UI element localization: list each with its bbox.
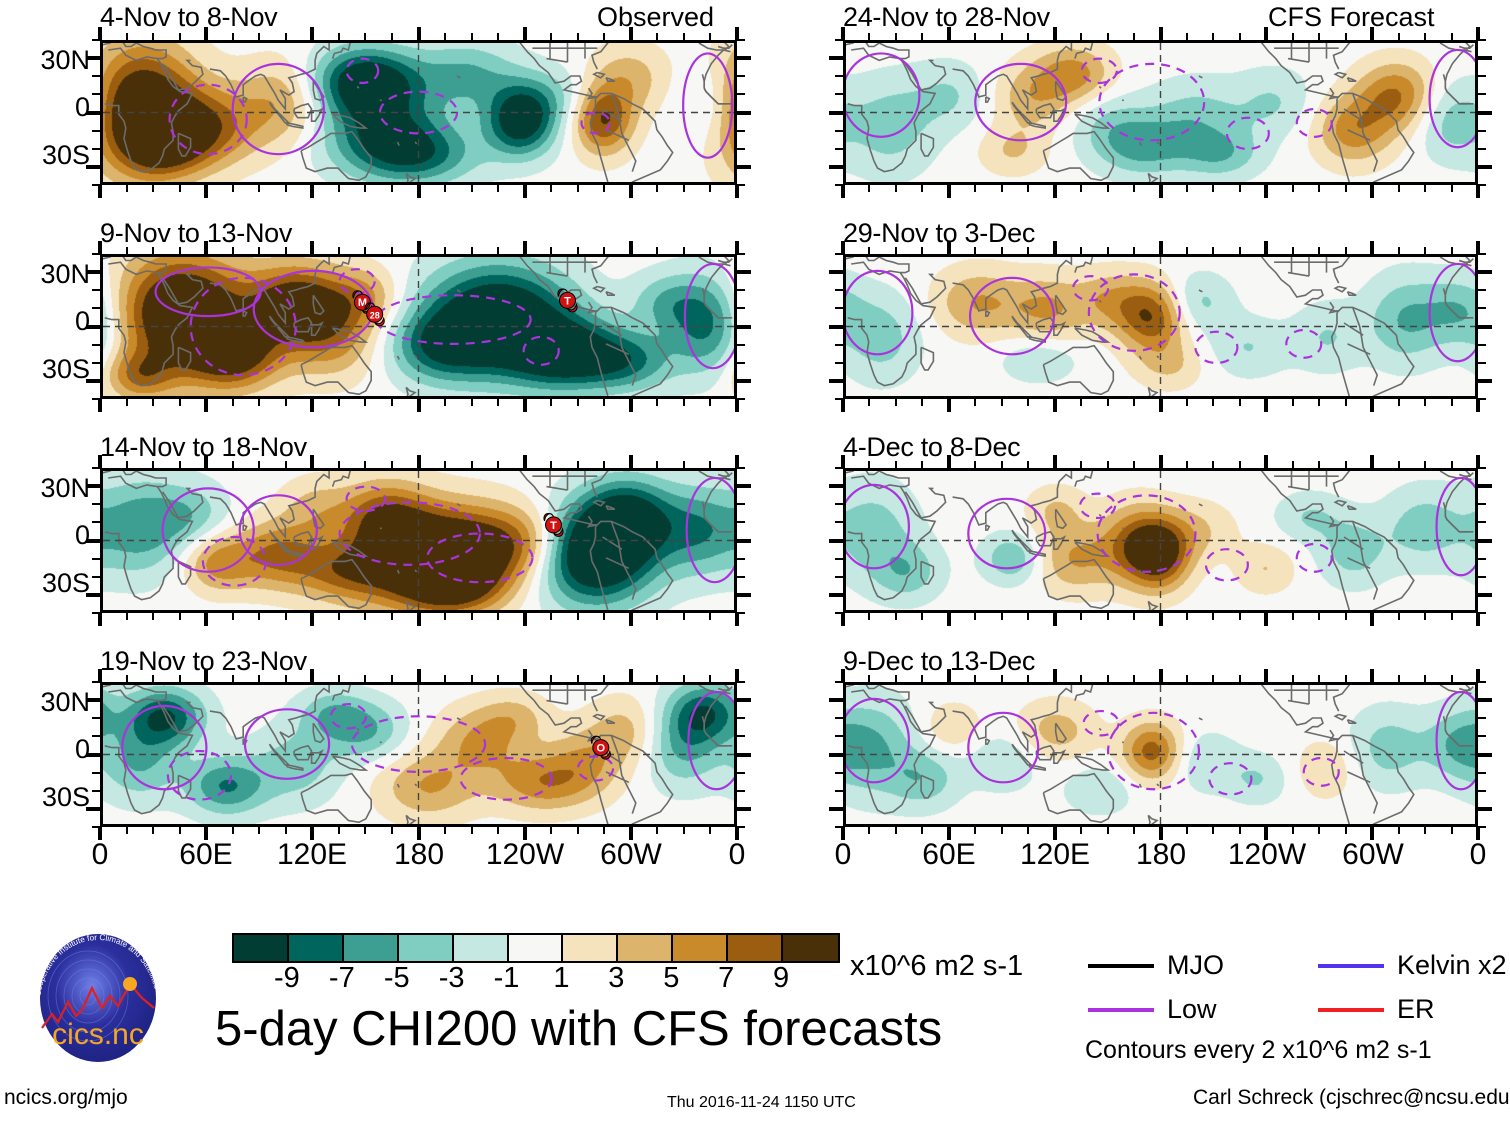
coastline [1445,516,1473,532]
ytick-label-0-r4: 0 [0,734,90,765]
x-tick-mark [921,675,923,682]
y-tick-mark [835,148,843,150]
panel-title-p8: 9-Dec to 13-Dec [843,646,1035,677]
y-tick-mark [1478,344,1486,346]
coastline [702,716,704,730]
x-tick-mark [683,247,685,254]
y-tick-mark [92,558,100,560]
x-tick-mark [974,675,976,682]
x-tick-mark [391,399,393,406]
coastline [398,570,400,574]
coastline [457,504,461,506]
xtick-label-r-360: 0 [1438,838,1510,872]
coastline [1199,290,1203,292]
panel-title-p7: 4-Dec to 8-Dec [843,432,1020,463]
x-tick-mark [232,461,234,468]
x-tick-mark [921,827,923,834]
x-tick-mark [391,185,393,192]
x-tick-mark [1186,399,1188,406]
coastline [301,774,371,823]
legend-item-kelvin: Kelvin x2 [1318,950,1507,981]
coastline [1353,521,1378,599]
x-tick-mark [310,455,314,468]
x-tick-mark [1398,461,1400,468]
footer-site-link[interactable]: ncics.org/mjo [4,1086,128,1110]
y-tick-mark [829,807,843,811]
y-tick-mark [1478,503,1486,505]
y-tick-mark [92,576,100,578]
coastline [1444,716,1446,730]
x-tick-mark [126,827,128,834]
x-tick-mark [1001,33,1003,40]
x-tick-mark [285,827,287,834]
coastline [594,715,605,720]
coastline [704,730,732,746]
y-tick-mark [1478,467,1486,469]
coastline [398,784,400,788]
cics-logo: Cooperative Institute for Climate and Sa… [18,932,178,1067]
legend-label-mjo: MJO [1167,950,1224,981]
x-tick-mark [921,399,923,406]
x-tick-mark [550,613,552,620]
x-tick-mark [364,185,366,192]
x-tick-mark [1186,461,1188,468]
storm-label: 28 [370,310,380,320]
legend-label-kelvin: Kelvin x2 [1397,950,1507,981]
x-tick-mark [232,613,234,620]
x-tick-mark [683,33,685,40]
y-tick-mark [92,612,100,614]
coastline [1075,756,1108,770]
y-tick-mark [86,111,100,115]
colorbar-swatch-2 [344,935,399,961]
x-tick-mark [1370,455,1374,468]
coastline [592,43,641,69]
x-tick-mark [1159,399,1163,412]
wave-contour-negative [376,295,530,344]
coastline [1043,774,1113,823]
y-tick-mark [86,379,100,383]
x-tick-mark [1345,247,1347,254]
y-tick-mark [829,270,843,274]
map-panel-p2[interactable]: M28T [100,254,737,399]
coastline [1348,130,1371,140]
x-tick-mark [709,33,711,40]
map-panel-p5[interactable] [843,40,1478,185]
x-tick-mark [709,461,711,468]
coastline [1199,76,1203,78]
coastline [103,471,724,487]
coastline [1353,93,1378,171]
x-tick-mark [709,185,711,192]
coastline [457,718,461,720]
map-panel-p4[interactable]: O [100,682,737,827]
x-tick-mark [1370,669,1374,682]
x-tick-mark [338,185,340,192]
coastline [1335,715,1346,720]
x-tick-mark [656,399,658,406]
x-tick-mark [841,399,845,412]
x-tick-mark [1476,827,1480,840]
x-tick-mark [152,33,154,40]
y-tick-mark [737,165,751,169]
x-tick-mark [1424,461,1426,468]
x-tick-mark [179,613,181,620]
x-tick-mark [179,247,181,254]
x-tick-mark [947,613,951,626]
x-tick-mark [179,33,181,40]
map-overlay-p1 [103,43,734,182]
x-tick-mark [1159,455,1163,468]
coastline [1335,287,1346,292]
x-tick-mark [577,185,579,192]
coastline [1332,307,1414,396]
x-tick-mark [629,669,633,682]
x-tick-mark [656,185,658,192]
map-panel-p3[interactable]: T [100,468,737,613]
x-tick-mark [709,399,711,406]
x-tick-mark [974,185,976,192]
coastline [846,43,1465,59]
y-tick-mark [737,253,745,255]
x-tick-mark [364,247,366,254]
x-tick-mark [126,33,128,40]
coastline [606,772,629,782]
x-tick-mark [1451,675,1453,682]
y-tick-mark [835,681,843,683]
x-tick-mark [1292,399,1294,406]
x-tick-mark [232,33,234,40]
coastline [1348,720,1357,723]
x-tick-mark [1159,27,1163,40]
x-tick-mark [1264,827,1268,840]
wave-contour-negative [1098,495,1196,571]
y-tick-mark [1478,521,1486,523]
x-tick-mark [1292,185,1294,192]
x-tick-mark [1318,675,1320,682]
y-tick-mark [737,484,751,488]
wave-contour-negative [191,278,296,375]
x-tick-mark [1451,461,1453,468]
x-tick-mark [947,27,951,40]
coastline [1138,601,1157,610]
x-tick-mark [152,461,154,468]
coastline [1445,730,1473,746]
xtick-label-l-60e: 60E [166,838,246,872]
coastline [398,142,400,146]
y-tick-mark [835,344,843,346]
x-tick-mark [683,185,685,192]
x-tick-mark [550,33,552,40]
y-tick-mark [1478,379,1492,383]
x-tick-mark [417,185,421,198]
x-tick-mark [1451,247,1453,254]
wave-contour-negative [1227,118,1269,149]
map-panel-p7[interactable] [843,468,1478,613]
xtick-label-r-180: 180 [1121,838,1201,872]
x-tick-mark [258,399,260,406]
x-tick-mark [1001,247,1003,254]
y-tick-mark [1478,289,1486,291]
x-tick-mark [497,247,499,254]
x-tick-mark [152,185,154,192]
y-tick-mark [92,772,100,774]
y-tick-mark [92,307,100,309]
x-tick-mark [1292,247,1294,254]
coastline [547,487,568,491]
x-tick-mark [98,185,102,198]
coastline [1140,784,1142,788]
x-tick-mark [1001,675,1003,682]
y-tick-mark [86,753,100,757]
x-tick-mark [1424,399,1426,406]
x-tick-mark [1080,33,1082,40]
x-tick-mark [921,247,923,254]
x-tick-mark [497,675,499,682]
xtick-label-r-120e: 120E [1015,838,1095,872]
y-tick-mark [737,467,745,469]
y-tick-mark [92,717,100,719]
x-tick-mark [603,827,605,834]
x-tick-mark [947,241,951,254]
x-tick-mark [1318,247,1320,254]
y-tick-mark [835,93,843,95]
x-tick-mark [603,33,605,40]
x-tick-mark [338,399,340,406]
y-tick-mark [835,307,843,309]
coastline [547,273,568,277]
coastline [1334,685,1383,711]
x-tick-mark [1398,827,1400,834]
coastline [921,775,933,798]
map-panel-p1[interactable] [100,40,737,185]
y-tick-mark [86,325,100,329]
x-tick-mark [1370,613,1374,626]
coastline [1348,344,1371,354]
wave-contour-negative [1286,330,1321,358]
x-tick-mark [1107,33,1109,40]
x-tick-mark [1053,455,1057,468]
x-tick-mark [497,33,499,40]
x-tick-mark [1159,669,1163,682]
y-tick-mark [86,484,100,488]
x-tick-mark [550,247,552,254]
x-tick-mark [471,185,473,192]
x-tick-mark [1053,399,1057,412]
x-tick-mark [1159,241,1163,254]
colorbar-tick-8: 7 [696,962,756,995]
x-tick-mark [1186,185,1188,192]
footer-author: Carl Schreck (cjschrec@ncsu.edu) [1193,1086,1510,1110]
x-tick-mark [1107,461,1109,468]
x-tick-mark [1451,399,1453,406]
wave-contour-negative [1082,59,1117,83]
coastline [704,516,732,532]
coastline [1334,471,1383,497]
x-tick-mark [1239,33,1241,40]
x-tick-mark [523,827,527,840]
y-tick-mark [92,130,100,132]
x-tick-mark [523,455,527,468]
x-tick-mark [577,33,579,40]
x-tick-mark [709,827,711,834]
x-tick-mark [1345,827,1347,834]
coastline [1036,104,1054,118]
x-tick-mark [338,247,340,254]
x-tick-mark [285,247,287,254]
y-tick-mark [1478,130,1486,132]
x-tick-mark [1001,613,1003,620]
wave-contour-negative [168,751,231,800]
storm-marker[interactable]: T [558,289,577,312]
colorbar-tick-7: 5 [641,962,701,995]
coastline [1335,73,1346,78]
y-tick-mark [829,379,843,383]
wave-contour-negative [203,537,266,586]
coastline [243,525,247,530]
x-tick-mark [1107,827,1109,834]
coastline [1332,93,1414,182]
x-tick-mark [1080,827,1082,834]
x-tick-mark [1264,399,1268,412]
x-tick-mark [868,461,870,468]
x-tick-mark [1186,675,1188,682]
x-tick-mark [444,185,446,192]
x-tick-mark [391,461,393,468]
x-tick-mark [338,613,340,620]
x-tick-mark [1212,33,1214,40]
x-tick-mark [683,399,685,406]
x-tick-mark [1239,613,1241,620]
coastline [287,551,303,556]
x-tick-mark [1186,613,1188,620]
x-tick-mark [629,827,633,840]
ytick-label-30s-r3: 30S [0,568,90,599]
coastline [1348,558,1371,568]
x-tick-mark [1264,27,1268,40]
colorbar-swatch-1 [289,935,344,961]
ytick-label-30s-r4: 30S [0,782,90,813]
coastline [921,561,933,584]
x-tick-mark [921,185,923,192]
map-overlay-p8 [846,685,1475,824]
x-tick-mark [841,185,845,198]
coastline [1199,718,1203,720]
y-tick-mark [737,184,745,186]
x-tick-mark [550,399,552,406]
coastline [103,685,724,701]
wave-contour-negative [461,758,552,800]
x-tick-mark [974,613,976,620]
x-tick-mark [656,827,658,834]
y-tick-mark [737,503,745,505]
y-tick-mark [829,325,843,329]
x-tick-mark [735,185,739,198]
map-panel-p8[interactable] [843,682,1478,827]
coastline [1099,728,1101,730]
x-tick-mark [1424,827,1426,834]
y-tick-mark [835,612,843,614]
y-tick-mark [1478,270,1492,274]
x-tick-mark [364,675,366,682]
coastline [178,347,190,370]
column-header-forecast: CFS Forecast [1268,2,1435,33]
x-tick-mark [735,613,739,626]
x-tick-mark [921,613,923,620]
x-tick-mark [1053,241,1057,254]
coastline [396,601,415,610]
x-tick-mark [1027,33,1029,40]
y-tick-mark [835,521,843,523]
y-tick-mark [737,270,751,274]
x-tick-mark [656,613,658,620]
storm-marker[interactable]: T [544,513,563,536]
coastline [1348,78,1357,81]
x-tick-mark [629,455,633,468]
wave-contour-negative [524,337,559,365]
x-tick-mark [258,675,260,682]
xtick-label-l-60w: 60W [591,838,671,872]
x-tick-mark [1345,675,1347,682]
y-tick-mark [737,539,751,543]
x-tick-mark [921,33,923,40]
coastline [1043,132,1113,181]
x-tick-mark [126,247,128,254]
x-tick-mark [338,33,340,40]
x-tick-mark [1239,827,1241,834]
y-tick-mark [92,503,100,505]
coastline [396,173,415,182]
x-tick-mark [947,399,951,412]
y-tick-mark [737,698,751,702]
x-tick-mark [577,613,579,620]
x-tick-mark [1318,185,1320,192]
x-tick-mark [1133,827,1135,834]
x-tick-mark [1107,675,1109,682]
coastline [415,784,417,786]
y-tick-mark [737,362,745,364]
y-tick-mark [829,593,843,597]
legend-line-kelvin [1318,964,1384,968]
x-tick-mark [497,613,499,620]
y-tick-mark [737,826,745,828]
x-tick-mark [1264,613,1268,626]
coastline [611,307,636,385]
x-tick-mark [895,461,897,468]
x-tick-mark [1239,185,1241,192]
coastline [953,257,1096,323]
x-tick-mark [471,247,473,254]
x-tick-mark [1080,185,1082,192]
coastline [590,307,672,396]
coastline [1140,570,1142,574]
y-tick-mark [86,165,100,169]
x-tick-mark [310,241,314,254]
legend-label-er: ER [1397,994,1435,1025]
x-tick-mark [1001,461,1003,468]
y-tick-mark [1478,612,1486,614]
x-tick-mark [1212,613,1214,620]
map-panel-p6[interactable] [843,254,1478,399]
x-tick-mark [603,675,605,682]
x-tick-mark [338,461,340,468]
coastline [1288,59,1309,63]
coastline [357,728,359,730]
coastline [457,290,461,292]
x-tick-mark [1398,613,1400,620]
y-tick-mark [92,344,100,346]
x-tick-mark [1133,247,1135,254]
